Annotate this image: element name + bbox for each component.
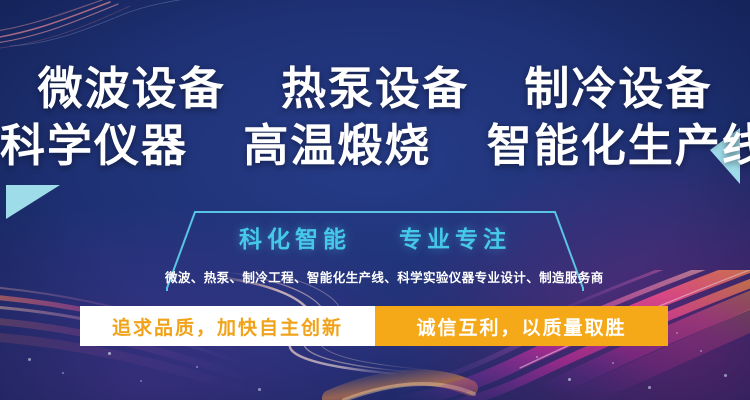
headline-line-1: 微波设备 热泵设备 制冷设备 xyxy=(0,60,750,117)
triangle-left-decoration xyxy=(6,185,60,219)
headline-line2-item3: 智能化生产线 xyxy=(487,119,750,172)
slogan-cyan-left: 科化智能 xyxy=(239,227,351,253)
ribbon-right-text: 诚信互利，以质量取胜 xyxy=(416,313,626,340)
slogan-cyan: 科化智能 专业专注 xyxy=(165,220,585,254)
ribbon-right: 诚信互利，以质量取胜 xyxy=(375,306,668,346)
promotional-banner: 微波设备 热泵设备 制冷设备 科学仪器 高温煅烧 智能化生产线 科化智能 专业专… xyxy=(0,0,750,400)
ribbon-left: 追求品质，加快自主创新 xyxy=(80,306,375,346)
ribbon-left-text: 追求品质，加快自主创新 xyxy=(112,313,343,340)
headline: 微波设备 热泵设备 制冷设备 科学仪器 高温煅烧 智能化生产线 xyxy=(0,60,750,174)
subline-description: 微波、热泵、制冷工程、智能化生产线、科学实验仪器专业设计、制造服务商 xyxy=(165,267,585,286)
slogan-cyan-right: 专业专注 xyxy=(399,227,511,253)
slogan-block: 科化智能 专业专注 微波、热泵、制冷工程、智能化生产线、科学实验仪器专业设计、制… xyxy=(165,208,585,293)
headline-line2-item1: 科学仪器 xyxy=(0,119,188,172)
headline-line2-item2: 高温煅烧 xyxy=(243,119,431,172)
headline-line1-item1: 微波设备 xyxy=(38,62,226,115)
headline-line1-item3: 制冷设备 xyxy=(524,62,712,115)
headline-line-2: 科学仪器 高温煅烧 智能化生产线 xyxy=(0,117,750,174)
headline-line1-item2: 热泵设备 xyxy=(281,62,469,115)
